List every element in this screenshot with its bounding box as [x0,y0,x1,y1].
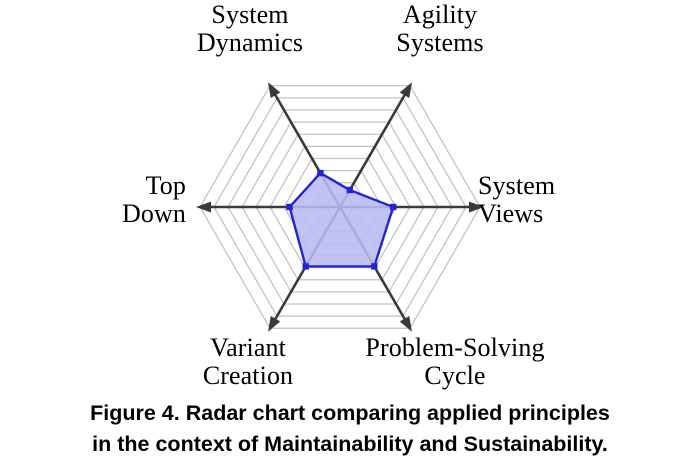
radar-data-point [303,263,309,269]
radar-axis-arrowhead [268,316,280,332]
radar-data-point [317,170,323,176]
axis-label-top-down-line1: Top [8,172,186,200]
axis-label-system-dynamics-line2: Dynamics [150,29,350,57]
axis-label-problem-solving-cycle: Problem-Solving Cycle [330,334,580,390]
radar-data-point [390,204,396,210]
radar-axis-arrowhead [196,202,211,213]
axis-label-agility-systems: Agility Systems [340,1,540,57]
axis-label-variant-creation: Variant Creation [148,334,348,390]
figure-caption: Figure 4. Radar chart comparing applied … [0,398,700,459]
radar-axis-arrowhead [400,316,412,332]
axis-label-variant-creation-line2: Creation [148,362,348,390]
axis-label-top-down-line2: Down [8,200,186,228]
axis-label-problem-solving-line2: Cycle [330,362,580,390]
figure-caption-line1: Figure 4. Radar chart comparing applied … [0,398,700,429]
axis-label-problem-solving-line1: Problem-Solving [330,334,580,362]
axis-label-agility-systems-line1: Agility [340,1,540,29]
radar-data-point [371,263,377,269]
axis-label-system-views-line1: System [478,172,690,200]
radar-data-point [286,204,292,210]
figure-caption-line2: in the context of Maintainability and Su… [0,429,700,460]
axis-label-system-dynamics-line1: System [150,1,350,29]
axis-label-system-views: System Views [478,172,690,228]
radar-axis-arrowhead [400,82,412,98]
radar-data-polygon [290,173,394,266]
axis-label-agility-systems-line2: Systems [340,29,540,57]
figure-container: System Dynamics Agility Systems System V… [0,0,700,476]
radar-data-point [347,187,353,193]
axis-label-system-views-line2: Views [478,200,690,228]
axis-label-top-down: Top Down [8,172,186,228]
axis-label-system-dynamics: System Dynamics [150,1,350,57]
axis-label-variant-creation-line1: Variant [148,334,348,362]
radar-axis-arrowhead [268,82,280,98]
